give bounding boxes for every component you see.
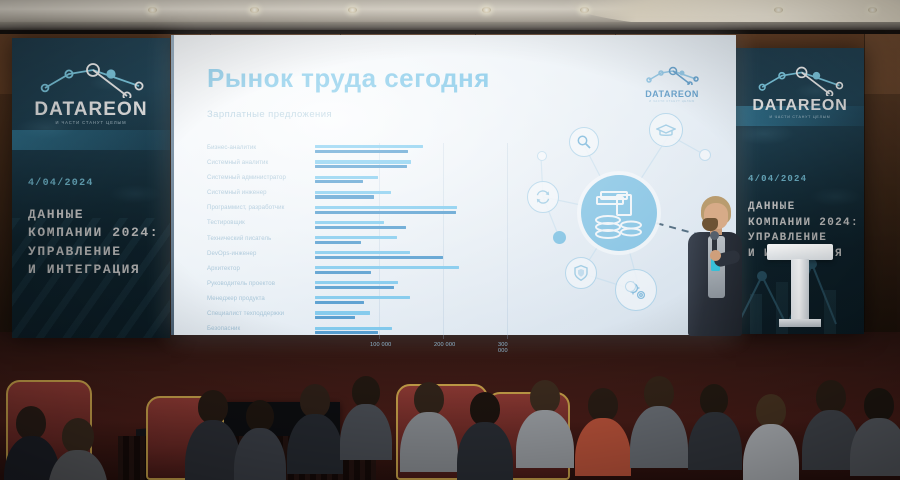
banner-right-headline-line-2: КОМПАНИИ 2024:	[748, 216, 859, 232]
chart-bar	[315, 145, 423, 148]
graduation-cap-icon	[649, 113, 683, 147]
banner-left-logo-word: DATAREON	[12, 100, 170, 119]
ceiling-spot-light	[148, 7, 157, 13]
chart-bar	[315, 206, 457, 209]
head	[756, 394, 786, 428]
ceiling-spot-light	[250, 7, 259, 13]
chart-bar	[315, 266, 459, 269]
chart-bar	[315, 160, 411, 163]
projection-screen: Рынок труда сегодня Зарплатные предложен…	[171, 35, 736, 335]
shoulders	[234, 428, 286, 480]
datareon-graph-icon	[643, 65, 701, 85]
chart-bar	[315, 211, 456, 214]
network-node-filled	[553, 231, 566, 244]
banner-accent-band	[12, 130, 170, 150]
banner-left-logo: DATAREON И ЧАСТИ СТАНУТ ЦЕЛЫМ	[12, 58, 170, 125]
chart-bar	[315, 226, 406, 229]
chart-bar	[315, 165, 407, 168]
slide-logo-tagline: И ЧАСТИ СТАНУТ ЦЕЛЫМ	[638, 101, 706, 104]
search-icon	[569, 127, 599, 157]
chart-category-label: Руководитель проектов	[207, 280, 311, 287]
head	[644, 376, 674, 410]
banner-accent-band	[736, 106, 864, 126]
chart-bar	[315, 191, 391, 194]
conference-photo-scene: DATAREON И ЧАСТИ СТАНУТ ЦЕЛЫМ 4/04/2024 …	[0, 0, 900, 480]
chart-category-label: Технический писатель	[207, 235, 311, 242]
ceiling-spot-light	[580, 7, 589, 13]
head	[300, 384, 330, 418]
chart-bar	[315, 195, 374, 198]
chart-row: Руководитель проектов	[207, 279, 507, 294]
chart-bar	[315, 281, 398, 284]
banner-left-headline-line-1: ДАННЫЕ	[28, 206, 159, 224]
head	[816, 380, 846, 414]
shoulders	[850, 418, 900, 476]
shield-icon	[565, 257, 597, 289]
chart-row: Технический писатель	[207, 234, 507, 249]
chart-category-label: Архитектор	[207, 265, 311, 272]
chart-bar	[315, 180, 363, 183]
head	[588, 388, 618, 422]
banner-left-logo-tagline: И ЧАСТИ СТАНУТ ЦЕЛЫМ	[12, 121, 170, 125]
magnifier-glyph	[576, 134, 592, 150]
shoulders	[340, 404, 392, 460]
chart-bar	[315, 256, 443, 259]
shield-glyph	[573, 264, 589, 282]
slide-logo-word: DATAREON	[638, 90, 706, 99]
shoulders	[688, 412, 742, 470]
chart-row: Архитектор	[207, 264, 507, 279]
chart-category-label: Системный инженер	[207, 189, 311, 196]
shoulders	[743, 424, 799, 480]
chart-category-label: Тестировщик	[207, 219, 311, 226]
ceiling-spot-light	[774, 7, 783, 13]
shoulders	[287, 414, 343, 474]
banner-right-headline-line-1: ДАННЫЕ	[748, 200, 859, 216]
network-node	[625, 281, 636, 292]
network-node	[699, 149, 711, 161]
mortarboard-glyph	[656, 122, 676, 138]
ceiling-spot-light	[348, 7, 357, 13]
chart-bar	[315, 241, 361, 244]
sync-arrows-glyph	[534, 188, 552, 206]
chart-bar	[315, 221, 384, 224]
chart-category-label: DevOps-инженер	[207, 250, 311, 257]
chart-bar	[315, 150, 408, 153]
banner-hex-pattern	[12, 38, 170, 338]
chart-row: Программист, разработчик	[207, 203, 507, 218]
banner-left-headline-line-4: И ИНТЕГРАЦИЯ	[28, 261, 159, 279]
presenter-beard	[702, 218, 718, 231]
banner-left-headline: ДАННЫЕ КОМПАНИИ 2024: УПРАВЛЕНИЕ И ИНТЕГ…	[28, 206, 159, 280]
chart-bar	[315, 286, 394, 289]
datareon-graph-icon	[35, 58, 147, 98]
head	[414, 382, 444, 416]
coins-icon	[581, 175, 657, 251]
chart-bar	[315, 176, 378, 179]
chart-row: Системный инженер	[207, 188, 507, 203]
ceiling-spot-light	[482, 7, 491, 13]
money-stack-glyph	[581, 175, 657, 251]
chart-bar	[315, 271, 371, 274]
shoulders	[575, 418, 631, 476]
microphone-head	[710, 231, 719, 240]
banner-right-logo-word: DATAREON	[736, 98, 864, 114]
head	[470, 392, 500, 426]
chart-bar	[315, 236, 397, 239]
chart-category-label: Бизнес-аналитик	[207, 144, 311, 151]
network-node	[537, 151, 547, 161]
audience-seating	[0, 300, 900, 480]
ceiling-spot-light	[868, 7, 877, 13]
refresh-icon	[527, 181, 559, 213]
chart-row: DevOps-инженер	[207, 249, 507, 264]
presenter-hand	[710, 250, 721, 261]
chart-row: Тестировщик	[207, 218, 507, 233]
chart-category-label: Программист, разработчик	[207, 204, 311, 211]
chart-row: Системный администратор	[207, 173, 507, 188]
chart-bar	[315, 296, 410, 299]
slide-logo: DATAREON И ЧАСТИ СТАНУТ ЦЕЛЫМ	[638, 65, 706, 104]
lectern-top	[767, 244, 833, 260]
banner-right-logo: DATAREON И ЧАСТИ СТАНУТ ЦЕЛЫМ	[736, 62, 864, 120]
shoulders	[630, 406, 688, 468]
banner-left-date: 4/04/2024	[28, 178, 94, 189]
slide: Рынок труда сегодня Зарплатные предложен…	[171, 35, 736, 335]
head	[864, 388, 894, 422]
head	[62, 418, 94, 454]
roll-up-banner-left: DATAREON И ЧАСТИ СТАНУТ ЦЕЛЫМ 4/04/2024 …	[12, 38, 170, 338]
chart-row: Бизнес-аналитик	[207, 143, 507, 158]
banner-right-logo-tagline: И ЧАСТИ СТАНУТ ЦЕЛЫМ	[736, 116, 864, 120]
head	[16, 406, 46, 440]
chart-category-label: Системный администратор	[207, 174, 311, 181]
chart-bar	[315, 251, 410, 254]
chart-row: Системный аналитик	[207, 158, 507, 173]
head	[198, 390, 228, 424]
banner-left-headline-line-2: КОМПАНИИ 2024:	[28, 224, 159, 242]
screen-left-edge	[171, 35, 174, 335]
datareon-graph-icon	[754, 62, 846, 96]
banner-right-date: 4/04/2024	[748, 174, 807, 184]
head	[530, 380, 560, 414]
chart-category-label: Системный аналитик	[207, 159, 311, 166]
banner-left-headline-line-3: УПРАВЛЕНИЕ	[28, 243, 159, 261]
